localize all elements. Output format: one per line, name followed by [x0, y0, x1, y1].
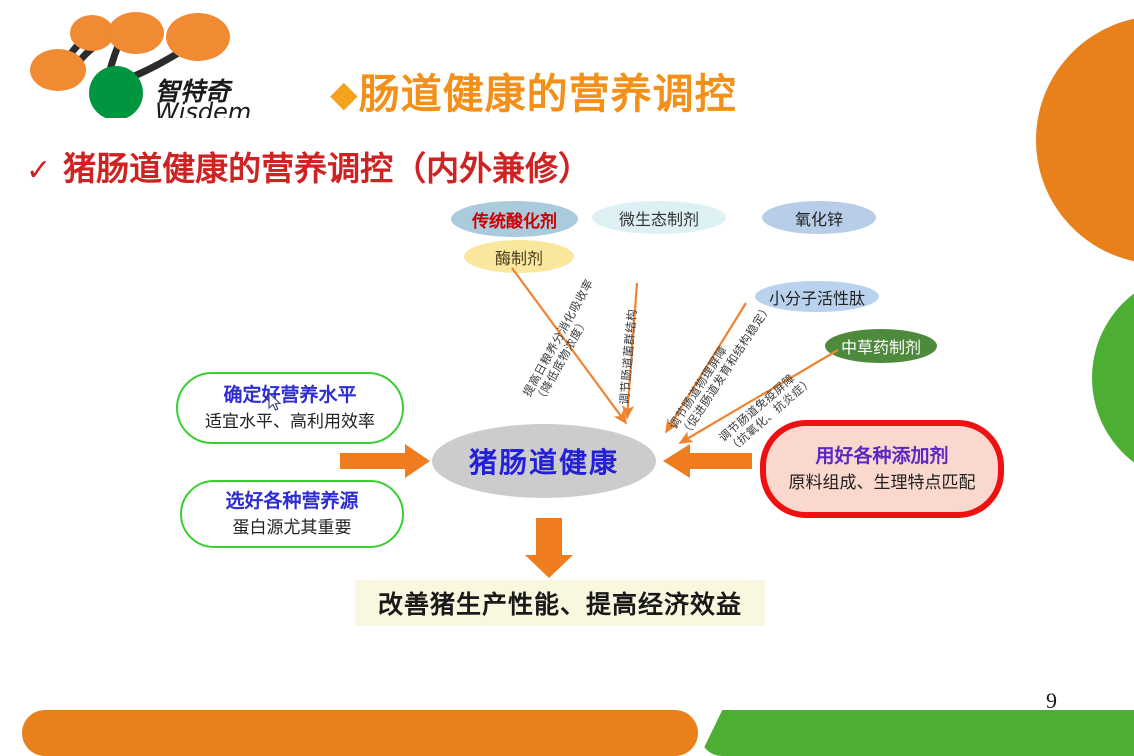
slide-canvas: 智特奇 Wisdem ◆肠道健康的营养调控 ✓猪肠道健康的营养调控（内外兼修） …	[0, 0, 1134, 756]
arrow-label-line1: 调节肠道菌群结构	[617, 308, 640, 405]
box-nutrient-source[interactable]: 选好各种营养源 蛋白源尤其重要	[180, 480, 404, 548]
box-nutrition-level-sub: 适宜水平、高利用效率	[205, 412, 375, 432]
arrow-label-microbiota-structure: 调节肠道菌群结构	[617, 308, 640, 405]
check-bullet-icon: ✓	[26, 153, 51, 188]
box-nutrition-level[interactable]: 确定好营养水平 适宜水平、高利用效率	[176, 372, 404, 444]
company-logo: 智特奇 Wisdem	[18, 8, 256, 118]
arrow-center-to-result	[525, 518, 573, 578]
chip-traditional-acidifier[interactable]: 传统酸化剂	[451, 201, 578, 237]
box-nutrient-source-heading: 选好各种营养源	[225, 490, 358, 513]
page-number: 9	[1046, 688, 1057, 714]
page-title-text: 肠道健康的营养调控	[359, 70, 737, 118]
chip-chinese-herbal-agent[interactable]: 中草药制剂	[825, 329, 937, 363]
logo-brand-en: Wisdem	[155, 98, 251, 118]
result-banner: 改善猪生产性能、提高经济效益	[355, 580, 765, 626]
subtitle: ✓猪肠道健康的营养调控（内外兼修）	[26, 142, 591, 190]
box-additives-sub: 原料组成、生理特点匹配	[789, 473, 976, 493]
box-nutrition-level-heading: 确定好营养水平	[223, 384, 356, 407]
footer-bar-orange	[22, 710, 698, 756]
footer-bar-green	[700, 710, 1134, 756]
subtitle-text: 猪肠道健康的营养调控（内外兼修）	[63, 149, 591, 188]
mouse-cursor-icon	[268, 392, 282, 412]
box-additives[interactable]: 用好各种添加剂 原料组成、生理特点匹配	[760, 420, 1004, 518]
box-additives-heading: 用好各种添加剂	[815, 445, 948, 468]
center-node-gut-health[interactable]: 猪肠道健康	[432, 424, 656, 498]
chip-zinc-oxide[interactable]: 氧化锌	[762, 201, 876, 234]
chip-microecological-agent[interactable]: 微生态制剂	[592, 201, 726, 234]
page-title: ◆肠道健康的营养调控	[330, 60, 737, 120]
arrow-label-nutrient-digestion: 提高日粮养分消化吸收率 （降低底物浓度）	[520, 277, 609, 406]
decorative-circle-green	[1092, 272, 1134, 484]
decorative-circle-orange	[1036, 16, 1134, 264]
box-nutrient-source-sub: 蛋白源尤其重要	[233, 518, 352, 538]
chip-enzyme-preparation[interactable]: 酶制剂	[464, 240, 574, 273]
diamond-bullet-icon: ◆	[330, 74, 359, 115]
arrow-left-to-center	[340, 444, 430, 478]
